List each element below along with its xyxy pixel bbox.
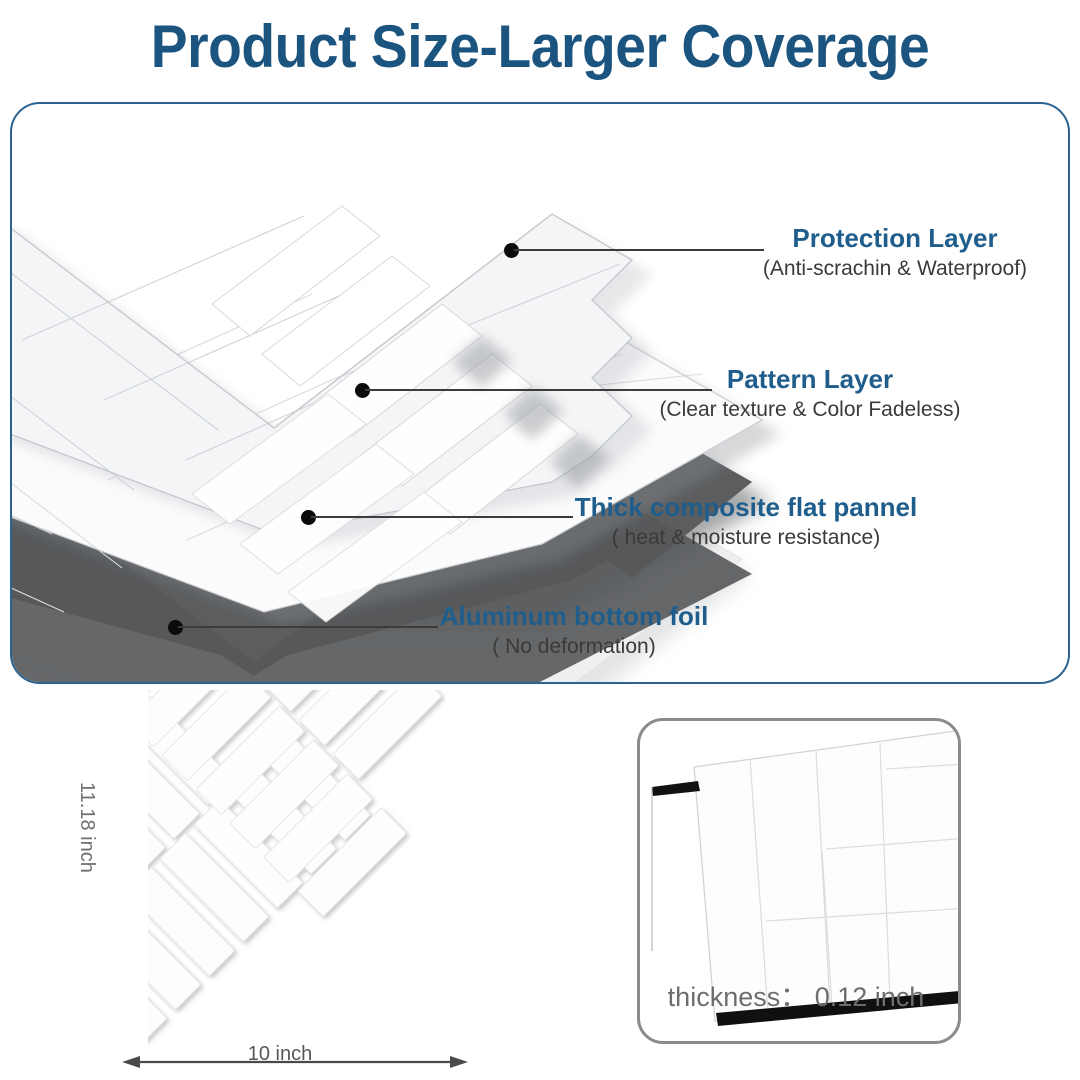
callout-aluminum-bottom-foil: Aluminum bottom foil ( No deformation): [424, 600, 724, 662]
callout-line-composite: [311, 516, 573, 518]
width-dimension-label: 10 inch: [170, 1043, 390, 1066]
callout-thick-composite-flat-pannel: Thick composite flat pannel ( heat & moi…: [556, 491, 936, 553]
herringbone-tile-sheet: [120, 690, 470, 1080]
tile-plank-group: [120, 690, 442, 1044]
callout-line-foil: [178, 626, 438, 628]
callout-title: Pattern Layer: [645, 363, 975, 395]
thickness-label: thickness： 0.12 inch: [637, 975, 955, 1014]
height-dimension-label: 11.18 inch: [75, 782, 98, 873]
callout-line-protection: [514, 249, 764, 251]
size-diagram: [120, 690, 470, 1080]
infographic-page: Product Size-Larger Coverage: [0, 0, 1080, 1080]
callout-subtitle: ( heat & moisture resistance): [556, 523, 936, 553]
callout-subtitle: (Clear texture & Color Fadeless): [645, 395, 975, 425]
callout-subtitle: ( No deformation): [424, 632, 724, 662]
callout-protection-layer: Protection Layer (Anti-scrachin & Waterp…: [735, 222, 1055, 284]
callout-pattern-layer: Pattern Layer (Clear texture & Color Fad…: [645, 363, 975, 425]
callout-title: Protection Layer: [735, 222, 1055, 254]
callout-title: Aluminum bottom foil: [424, 600, 724, 632]
page-title: Product Size-Larger Coverage: [43, 8, 1037, 86]
callout-subtitle: (Anti-scrachin & Waterproof): [735, 254, 1055, 284]
callout-title: Thick composite flat pannel: [556, 491, 936, 523]
